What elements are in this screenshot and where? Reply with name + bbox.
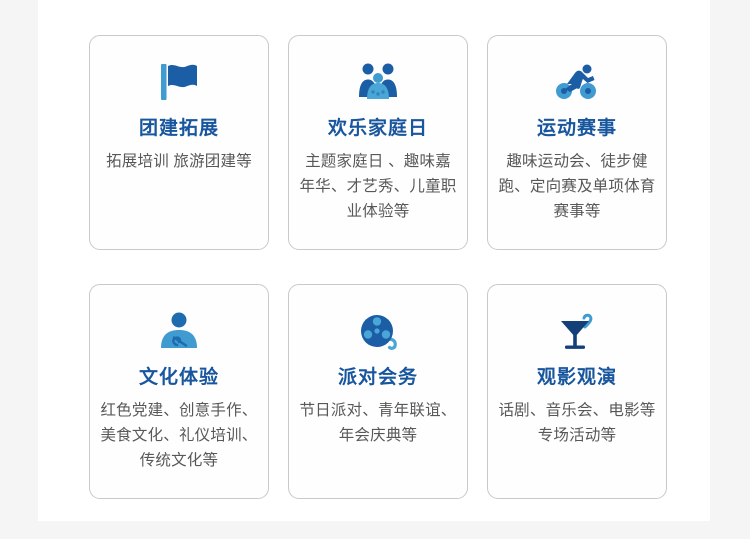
cocktail-icon: [551, 307, 603, 357]
card-description: 拓展培训 旅游团建等: [97, 149, 261, 174]
card-title: 文化体验: [139, 366, 219, 390]
cyclist-icon: [551, 58, 603, 108]
category-card-sports-events[interactable]: 运动赛事 趣味运动会、徒步健跑、定向赛及单项体育赛事等: [487, 35, 667, 250]
category-card-shows-movies[interactable]: 观影观演 话剧、音乐会、电影等专场活动等: [487, 284, 667, 499]
service-category-grid: 团建拓展 拓展培训 旅游团建等: [89, 35, 667, 499]
category-card-family-day[interactable]: 欢乐家庭日 主题家庭日 、趣味嘉年华、才艺秀、儿童职业体验等: [288, 35, 468, 250]
category-card-culture-experience[interactable]: 文化体验 红色党建、创意手作、美食文化、礼仪培训、传统文化等: [89, 284, 269, 499]
party-member-icon: [153, 307, 205, 357]
film-reel-icon: [352, 307, 404, 357]
card-title: 运动赛事: [537, 117, 617, 141]
card-description: 主题家庭日 、趣味嘉年华、才艺秀、儿童职业体验等: [289, 149, 467, 224]
family-icon: [352, 58, 404, 108]
category-card-party-events[interactable]: 派对会务 节日派对、青年联谊、年会庆典等: [288, 284, 468, 499]
flag-icon: [153, 58, 205, 108]
card-title: 欢乐家庭日: [328, 117, 428, 141]
card-description: 话剧、音乐会、电影等专场活动等: [488, 398, 666, 448]
card-title: 派对会务: [338, 366, 418, 390]
card-title: 观影观演: [537, 366, 617, 390]
card-title: 团建拓展: [139, 117, 219, 141]
page-root: 团建拓展 拓展培训 旅游团建等: [0, 0, 750, 539]
card-description: 趣味运动会、徒步健跑、定向赛及单项体育赛事等: [488, 149, 666, 224]
category-card-team-building[interactable]: 团建拓展 拓展培训 旅游团建等: [89, 35, 269, 250]
content-panel: 团建拓展 拓展培训 旅游团建等: [38, 0, 710, 521]
card-description: 红色党建、创意手作、美食文化、礼仪培训、传统文化等: [90, 398, 268, 473]
card-description: 节日派对、青年联谊、年会庆典等: [289, 398, 467, 448]
